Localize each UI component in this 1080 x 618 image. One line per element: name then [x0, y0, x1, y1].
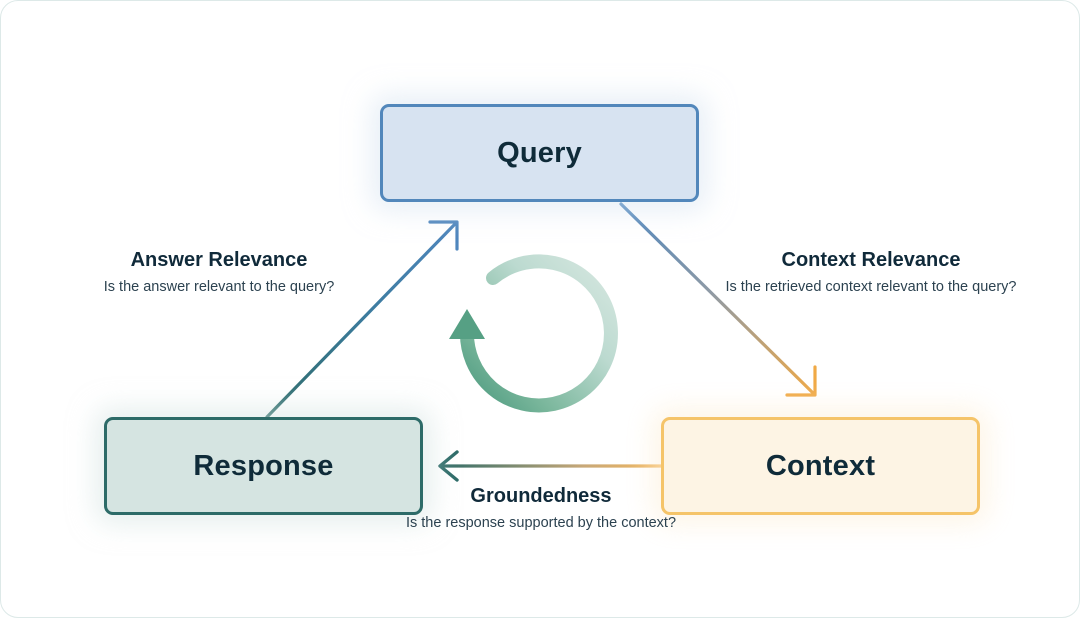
diagram-canvas: Query Response Context Answer Relevance …: [0, 0, 1080, 618]
node-response-label: Response: [193, 452, 333, 481]
node-query[interactable]: Query: [380, 104, 699, 202]
node-response[interactable]: Response: [104, 417, 423, 515]
node-context[interactable]: Context: [661, 417, 980, 515]
arrow-context-to-response: [440, 452, 661, 480]
metric-context-relevance-title: Context Relevance: [721, 249, 1021, 271]
arrow-query-to-context: [621, 204, 815, 395]
metric-answer-relevance-description: Is the answer relevant to the query?: [69, 278, 369, 298]
circular-refresh-arrow-icon: [449, 261, 611, 405]
metric-answer-relevance: Answer Relevance Is the answer relevant …: [69, 249, 369, 298]
metric-context-relevance-description: Is the retrieved context relevant to the…: [721, 278, 1021, 298]
metric-context-relevance: Context Relevance Is the retrieved conte…: [721, 249, 1021, 298]
metric-answer-relevance-title: Answer Relevance: [69, 249, 369, 271]
metric-groundedness: Groundedness Is the response supported b…: [391, 485, 691, 534]
node-query-label: Query: [497, 139, 582, 168]
metric-groundedness-description: Is the response supported by the context…: [391, 514, 691, 534]
metric-groundedness-title: Groundedness: [391, 485, 691, 507]
node-context-label: Context: [766, 452, 875, 481]
